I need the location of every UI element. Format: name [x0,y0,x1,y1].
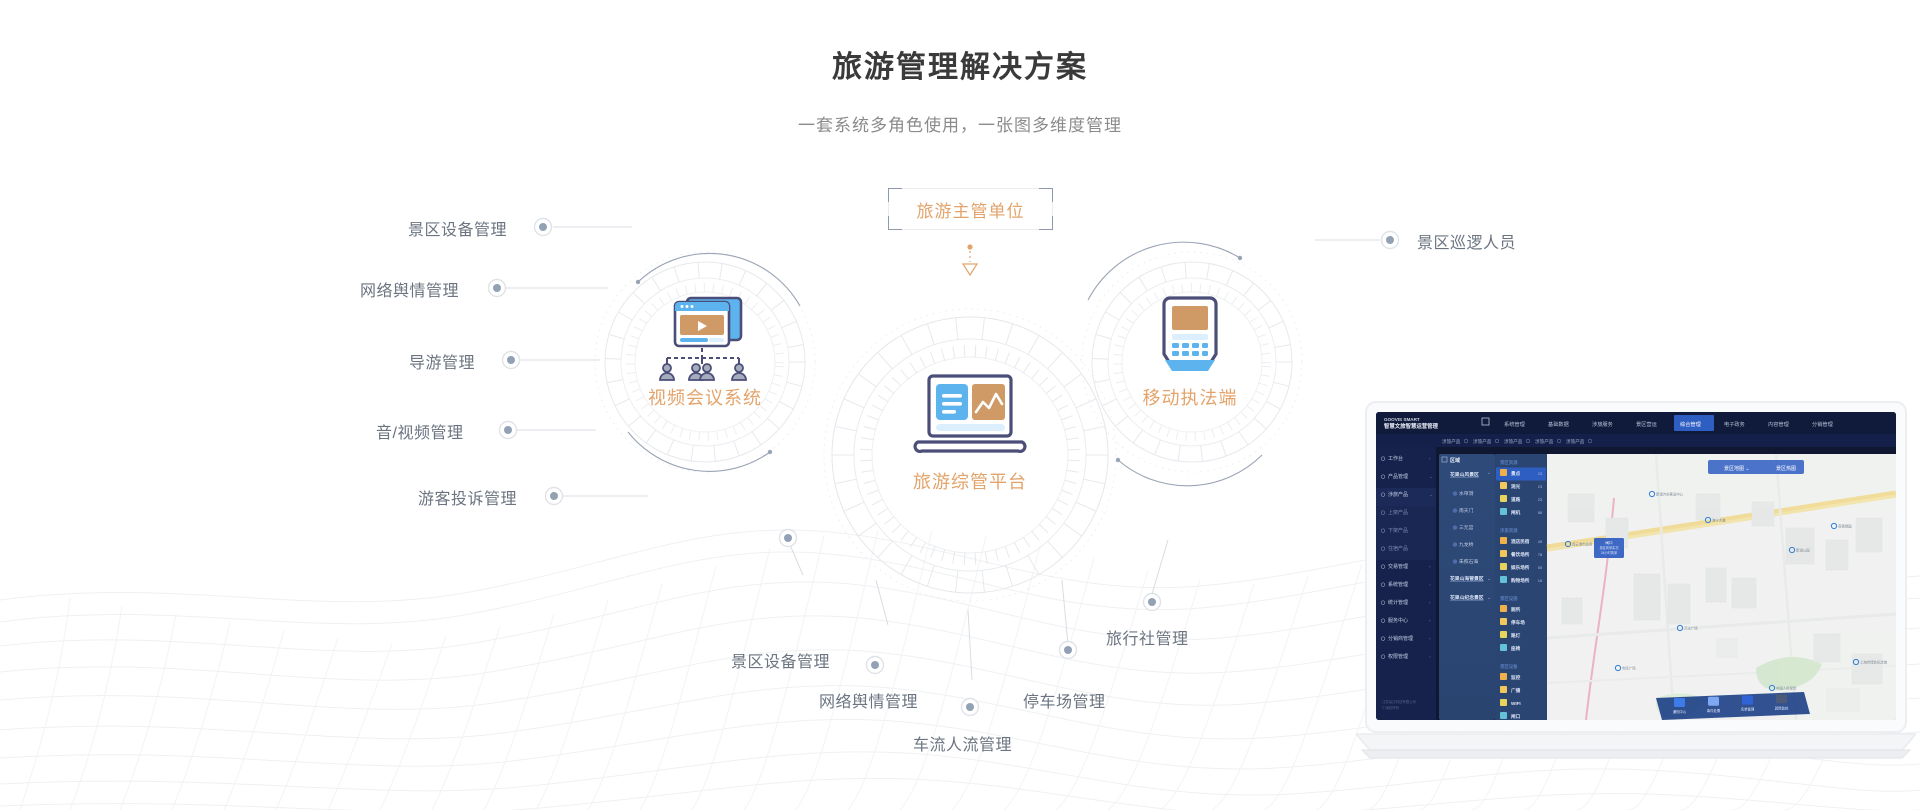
ring-tick [1220,426,1224,434]
ring-tick [1052,508,1062,515]
dock-item-icon[interactable] [1708,697,1719,706]
ring-tick [1142,416,1148,423]
layer-item-count: 55 [1538,565,1543,570]
dashboard-tree-item-2[interactable]: 南天门 [1459,507,1474,514]
ring-tick [985,552,987,564]
ring-tick [858,523,876,536]
dock-item-icon[interactable] [1674,698,1685,707]
ring-tick [733,426,737,434]
ring-tick [956,318,958,340]
video-conference-icon [615,292,795,384]
dashboard-map-poi-7[interactable]: 市民广场 [1622,666,1636,671]
top-badge[interactable]: 旅游主管单位 [888,188,1053,230]
ring-tick [1201,446,1203,462]
ring-tick [1178,445,1180,461]
ring-tick [1039,524,1047,532]
ring-tick [878,352,893,368]
dashboard-chip-4[interactable]: 涉旅产品 [1566,438,1585,445]
layer-item-icon [1500,631,1507,638]
dashboard-sidebar-item-10[interactable]: 分销商管理 [1388,635,1413,642]
dashboard-layer-item-3-0[interactable]: 监控 [1511,674,1521,681]
badge-edge-left [888,202,889,216]
ring-tick [754,412,760,418]
ring-tick [655,416,661,423]
svg-text:景区风采实况: 景区风采实况 [1599,545,1619,550]
layer-item-icon [1500,508,1507,515]
dashboard-sidebar-item-3[interactable]: 上架产品 [1388,509,1408,516]
dashboard-layer-item-1-3[interactable]: 购物场所 [1511,577,1530,584]
dashboard-layer-item-0-0[interactable]: 景点 [1511,470,1521,477]
tree-bullet-icon [1453,559,1457,563]
dashboard-sidebar-item-6[interactable]: 交易管理 [1388,563,1408,570]
ring-tick [931,352,935,363]
layer-group-title-1: 涉旅资源 [1500,527,1518,534]
laptop-dashboard-icon [845,372,1095,468]
badge-corner-bl [888,216,902,230]
dashboard-footer-line2: © 版权所有 [1382,705,1400,710]
layer-item-icon [1500,495,1507,502]
layer-item-count: 23 [1538,471,1543,476]
layer-group-title-2: 景区设施 [1500,595,1518,602]
dashboard-map-poi-8[interactable]: 中国人民保险 [1776,686,1797,691]
dashboard-nav-item-2[interactable]: 涉旅服务 [1592,420,1613,428]
label-left-4[interactable]: 游客投诉管理 [418,485,517,509]
label-left-0[interactable]: 景区设备管理 [408,216,507,240]
layer-item-icon [1500,576,1507,583]
ring-tick [1155,440,1161,455]
dashboard-screenshot: GOOVIS SMART 智慧文旅智慧运营管理 系统管理基础数据涉旅服务景区营运… [1376,412,1896,720]
ring-tick [698,262,699,278]
ring-tick [995,349,998,361]
ring-tick [1176,431,1178,440]
badge-edge-top [902,188,1039,189]
dashboard-layer-item-0-1[interactable]: 观光 [1511,483,1521,490]
ring-tick [1005,546,1009,557]
ring-tick [725,429,728,438]
ring-tick [1005,352,1009,363]
ring-tick [646,430,655,443]
ring-tick [1275,345,1291,348]
ring-tick [920,542,925,553]
ring-tick [1158,425,1162,433]
dashboard-tree-item-1[interactable]: 水帘洞 [1459,490,1474,497]
ring-tick [652,277,660,291]
node-left-caption: 视频会议系统 [615,384,795,410]
dashboard-brand-line2: 智慧文旅智慧运营管理 [1383,422,1439,430]
dashboard-nav-item-6[interactable]: 内容管理 [1768,420,1790,428]
ring-tick [964,345,965,357]
ring-tick [767,418,779,429]
left-leader-dots [489,219,563,505]
layer-item-count: 56 [1538,510,1543,515]
tree-bullet-icon [1453,542,1457,546]
ring-tick [714,446,716,462]
svg-text:24小时风采: 24小时风采 [1601,550,1618,555]
ring-tick [668,440,674,455]
ring-tick [964,553,965,565]
ring-tick [741,422,746,430]
ring-tick [1064,523,1082,536]
ring-tick [691,445,693,461]
node-tourism-platform[interactable]: 旅游综管平台 [845,372,1095,494]
dashboard-chip-3[interactable]: 涉旅产品 [1535,438,1554,445]
label-bottom-0[interactable]: 景区设备管理 [731,648,830,672]
sidebar-chevron-icon[interactable]: ⌄ [1429,474,1433,479]
layer-item-count: 78 [1538,552,1543,557]
label-bottom-1[interactable]: 网络舆情管理 [819,688,918,712]
layer-item-icon [1500,563,1507,570]
dashboard-chip-0[interactable]: 涉旅产品 [1442,438,1461,445]
ring-tick [1046,517,1055,525]
dashboard-sidebar-item-4[interactable]: 下架产品 [1388,527,1408,534]
layer-item-icon [1500,618,1507,625]
ring-tick [982,570,984,592]
ring-tick [1014,542,1019,553]
ring-tick [1139,277,1147,291]
tree-chevron-icon[interactable]: ⌃ [1487,472,1491,477]
badge-edge-right [1052,202,1053,216]
dashboard-dock-item-2[interactable]: 名单管理 [1741,707,1755,712]
ring-tick [1239,432,1248,445]
ring-tick [1014,357,1019,368]
dashboard-sidebar-item-5[interactable]: 住宿产品 [1388,545,1408,552]
dashboard-layer-item-1-1[interactable]: 餐饮场所 [1510,551,1530,558]
dashboard-nav-item-3[interactable]: 景区营运 [1636,420,1658,428]
ring-tick [844,502,864,511]
node-video-conference[interactable]: 视频会议系统 [615,292,795,410]
layer-item-icon [1500,644,1507,651]
ring-tick [680,428,683,437]
dashboard-tree-item-5[interactable]: 朱照石海 [1459,558,1478,565]
node-center-caption: 旅游综管平台 [845,468,1095,494]
layer-item-count: 45 [1538,539,1543,544]
dashboard-sidebar-item-8[interactable]: 统计管理 [1388,599,1408,606]
ring-tick [920,357,925,368]
badge-edge-bottom [902,229,1039,230]
dashboard-tree-item-3[interactable]: 三元宫 [1459,524,1474,531]
ring-tick [1115,416,1127,426]
ring-tick [689,431,691,440]
ring-tick [953,346,955,358]
label-left-2[interactable]: 导游管理 [409,349,475,373]
ring-tick [953,552,955,564]
ring-tick [674,267,679,282]
ring-tick [739,271,746,286]
ring-tick [872,499,883,504]
layer-item-icon [1500,712,1507,719]
svg-text:闸口: 闸口 [1605,540,1613,545]
dashboard-map-poi-4[interactable]: 苍梧绿园 [1838,524,1852,529]
ring-tick [995,550,998,562]
ring-tick [1150,421,1155,429]
dashboard-layer-item-3-1[interactable]: 广播 [1511,687,1521,694]
ring-tick [901,555,912,574]
ring-tick [1006,324,1013,345]
ring-tick [1185,262,1186,278]
ring-tick [982,318,984,340]
label-left-3[interactable]: 音/视频管理 [376,419,463,443]
ring-tick [956,570,958,592]
tree-chevron-icon[interactable]: ⌄ [1487,576,1491,581]
label-bottom-3[interactable]: 停车场管理 [1023,688,1106,712]
dashboard-dock-item-3[interactable]: 舆情监控 [1775,705,1789,710]
layer-item-icon [1500,605,1507,612]
layer-item-icon [1500,686,1507,693]
layer-item-count: 23 [1538,497,1543,502]
dashboard-layer-item-1-2[interactable]: 娱乐场所 [1511,564,1530,571]
badge-corner-tr [1039,188,1053,202]
tree-bullet-icon [1453,508,1457,512]
ring-tick [1023,537,1030,547]
node-right-caption: 移动执法端 [1105,384,1275,410]
layer-item-icon [1500,469,1507,476]
handheld-terminal-icon [1105,292,1275,384]
ring-tick [1028,335,1039,354]
dashboard-chip-1[interactable]: 涉旅产品 [1473,438,1492,445]
dashboard-map-poi-2[interactable]: 连云港市政府 [1572,542,1593,547]
layer-group-title-3: 景区设备 [1500,663,1518,670]
layer-item-icon [1500,550,1507,557]
ring-tick [1204,431,1205,440]
ring-tick [931,546,935,557]
dashboard-sidebar-item-1[interactable]: 产品管理 [1388,473,1408,480]
ring-tick [1161,267,1166,282]
dashboard-sidebar-item-9[interactable]: 服务中心 [1388,617,1408,624]
ring-tick [699,432,700,441]
dashboard-map-poi-5[interactable]: 万达广场 [1684,626,1698,631]
dashboard-sidebar-item-0[interactable]: 工作台 [1388,455,1403,462]
dashboard-layer-item-3-3[interactable]: 闸口 [1511,713,1521,720]
ring-tick [878,508,888,515]
ring-tick [927,565,934,586]
dock-item-icon[interactable] [1742,696,1753,705]
dashboard-nav-item-7[interactable]: 分销管理 [1812,420,1834,428]
tree-bullet-icon [1453,491,1457,495]
dashboard-map-poi-0[interactable]: 新浦汽车客运中心 [1656,492,1684,497]
dashboard-sidebar-item-2[interactable]: 涉旅产品 [1388,491,1408,498]
ring-tick [927,324,934,345]
ring-tick [1076,502,1096,511]
dashboard-map-poi-6[interactable]: 上海世博会纪念馆 [1860,660,1888,665]
ring-tick [663,421,668,429]
layer-item-icon [1500,482,1507,489]
dashboard-layer-item-1-0[interactable]: 酒店民宿 [1511,538,1530,545]
ring-tick [1212,429,1215,438]
ring-tick [734,441,739,456]
ring-tick [892,524,900,532]
dashboard-tree-item-7[interactable]: 花果山纪念景区 [1450,594,1484,601]
dashboard-nav-item-0[interactable]: 系统管理 [1504,420,1526,428]
ring-tick [901,335,912,354]
ring-tick [752,432,761,445]
dashboard-map-button-0[interactable]: 景区地图 ⌄ [1724,465,1750,472]
solution-overview-page: 旅游管理解决方案 一套系统多角色使用，一张图多维度管理 [0,0,1920,810]
ring-tick [1032,531,1040,540]
ring-tick [720,264,723,280]
ring-tick [628,416,640,426]
ring-tick [942,550,945,562]
dashboard-layer-item-0-2[interactable]: 道路 [1511,496,1521,503]
ring-tick [1226,271,1233,286]
bottom-leader-lines [790,545,1068,680]
label-right-1[interactable]: 旅行社管理 [1106,625,1189,649]
top-badge-label: 旅游主管单位 [917,197,1025,222]
ring-tick [748,418,753,425]
layer-item-count: 23 [1538,484,1543,489]
laptop-mockup: GOOVIS SMART 智慧文旅智慧运营管理 系统管理基础数据涉旅服务景区营运… [1356,398,1916,788]
ring-tick [648,410,655,416]
dashboard-nav-item-4[interactable]: 综合管理 [1680,420,1702,428]
badge-corner-tl [888,188,902,202]
dashboard-tree-item-6[interactable]: 花果山海管景区 [1450,575,1484,582]
ring-tick [885,517,894,525]
dashboard-map-poi-1[interactable]: 新浦公园 [1796,548,1810,553]
badge-corner-br [1039,216,1053,230]
dashboard-brand-line1: GOOVIS SMART [1384,417,1420,422]
ring-tick [975,553,976,565]
dashboard-layer-item-2-2[interactable]: 路灯 [1511,632,1521,639]
ring-tick [1228,422,1233,430]
tree-bullet-icon [1453,525,1457,529]
ring-tick [1006,565,1013,586]
ring-tick [1028,555,1039,574]
sidebar-chevron-icon[interactable]: ⌄ [1429,492,1433,497]
ring-tick [910,537,917,547]
dashboard-layer-item-2-0[interactable]: 厕所 [1511,606,1521,613]
dashboard-footer-line1: 江苏高达科技有限公司 [1382,699,1416,704]
badge-center-link [963,244,977,275]
dashboard-tree-item-0[interactable]: 花果山风景区 [1450,471,1479,478]
ring-tick [1241,412,1247,418]
ring-tick [1254,418,1266,429]
dashboard-dock-item-0[interactable]: 通知中心 [1673,709,1687,714]
layer-item-icon [1500,537,1507,544]
dashboard-nav-item-1[interactable]: 基础数据 [1548,420,1569,428]
dock-item-icon[interactable] [1776,694,1787,703]
label-right-0[interactable]: 景区巡逻人员 [1417,229,1516,253]
ring-tick [1207,264,1210,280]
ring-tick [1133,430,1142,443]
ring-tick [901,531,909,540]
ring-tick [1186,432,1187,441]
ring-tick [985,346,987,358]
layer-item-icon [1500,673,1507,680]
label-bottom-2[interactable]: 车流人流管理 [913,731,1012,755]
ring-tick [1167,428,1170,437]
tree-chevron-icon[interactable]: ⌄ [1487,595,1491,600]
layer-group-title-0: 景区资源 [1500,459,1518,466]
dashboard-layer-item-3-2[interactable]: WIFI [1511,701,1521,706]
dashboard-tree-item-4[interactable]: 九龙桥 [1459,541,1474,548]
ring-tick [717,431,718,440]
ring-tick [1048,352,1063,368]
ring-tick [878,541,893,557]
dashboard-layer-item-2-1[interactable]: 停车场 [1511,619,1525,626]
ring-tick [975,345,976,357]
ring-tick [1274,382,1290,386]
ring-tick [942,349,945,361]
dashboard-layer-item-0-3[interactable]: 闸机 [1511,509,1521,516]
dashboard-layer-item-2-3[interactable]: 座椅 [1510,645,1521,652]
dashboard-nav-item-5[interactable]: 电子政务 [1724,420,1745,428]
ring-tick [1235,418,1240,425]
ring-tick [1221,441,1226,456]
node-mobile-enforcement[interactable]: 移动执法端 [1105,292,1275,410]
dashboard-dock-item-1[interactable]: 事件处置 [1707,708,1721,713]
dashboard-map-poi-3[interactable]: 海宁大道 [1712,518,1726,523]
layer-item-count: 16 [1538,578,1543,583]
dashboard-sidebar-item-11[interactable]: 权限管理 [1388,653,1408,660]
dashboard-map-button-1[interactable]: 景区热图 [1776,465,1796,472]
dashboard-chip-2[interactable]: 涉旅产品 [1504,438,1523,445]
ring-tick [671,425,675,433]
ring-tick [1057,499,1068,504]
dashboard-sidebar-item-7[interactable]: 系统管理 [1388,581,1408,588]
tree-header: 区域 [1450,457,1460,464]
label-left-1[interactable]: 网络舆情管理 [360,277,459,301]
layer-item-icon [1500,699,1507,706]
ring-tick [1135,410,1142,416]
ring-tick [1048,541,1063,557]
